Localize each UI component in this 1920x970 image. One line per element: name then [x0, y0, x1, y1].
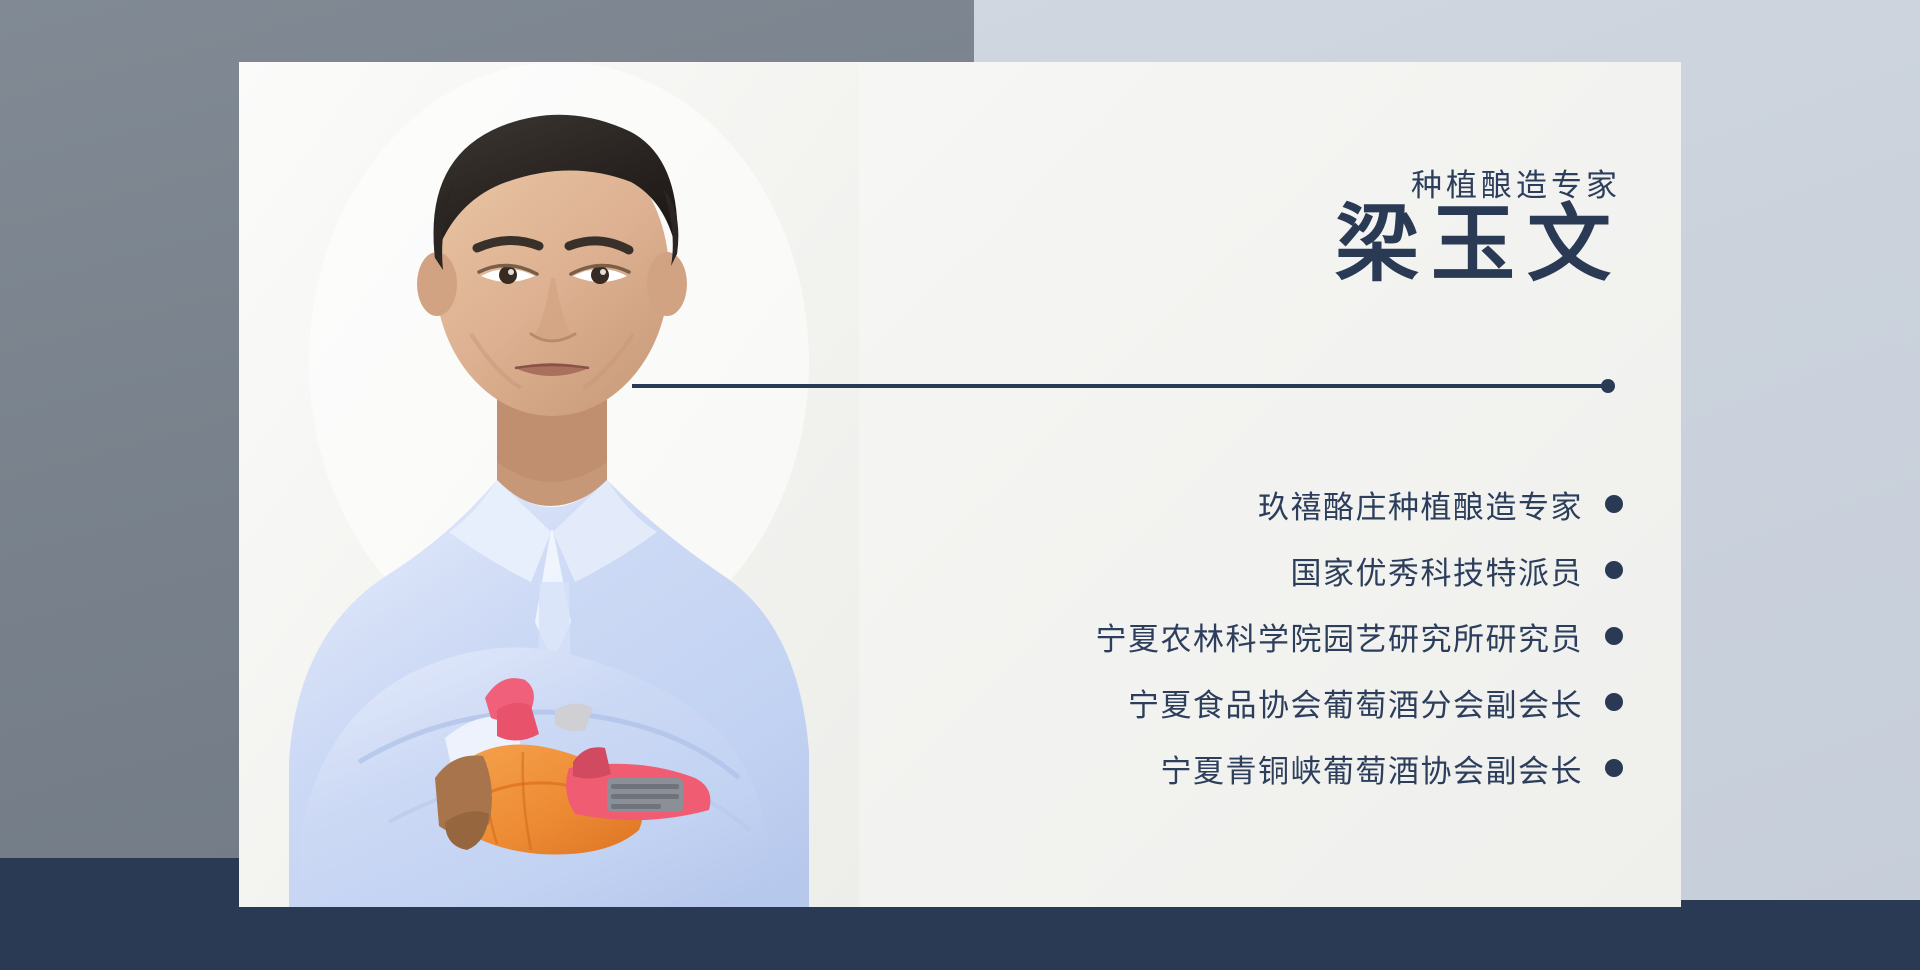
profile-name: 梁玉文 — [1335, 198, 1623, 295]
list-item: 宁夏青铜峡葡萄酒协会副会长 — [903, 741, 1623, 795]
portrait-photo — [239, 62, 859, 907]
credentials-list: 玖禧酪庄种植酿造专家 国家优秀科技特派员 宁夏农林科学院园艺研究所研究员 宁夏食… — [903, 477, 1623, 807]
bullet-dot-icon — [1605, 495, 1623, 513]
divider-end-dot-icon — [1601, 379, 1615, 393]
divider-line — [632, 384, 1608, 388]
credential-label: 宁夏青铜峡葡萄酒协会副会长 — [1161, 746, 1584, 791]
credential-label: 宁夏食品协会葡萄酒分会副会长 — [1128, 680, 1583, 725]
list-item: 国家优秀科技特派员 — [903, 543, 1623, 597]
list-item: 玖禧酪庄种植酿造专家 — [903, 477, 1623, 531]
poster-stage: 种植酿造专家 梁玉文 玖禧酪庄种植酿造专家 国家优秀科技特派员 宁夏农林科学院园… — [0, 0, 1920, 970]
bullet-dot-icon — [1605, 693, 1623, 711]
bullet-dot-icon — [1605, 627, 1623, 645]
profile-text-column: 种植酿造专家 梁玉文 玖禧酪庄种植酿造专家 国家优秀科技特派员 宁夏农林科学院园… — [860, 62, 1681, 907]
credential-label: 玖禧酪庄种植酿造专家 — [1258, 482, 1583, 527]
bullet-dot-icon — [1605, 561, 1623, 579]
bullet-dot-icon — [1605, 759, 1623, 777]
list-item: 宁夏农林科学院园艺研究所研究员 — [903, 609, 1623, 663]
list-item: 宁夏食品协会葡萄酒分会副会长 — [903, 675, 1623, 729]
credential-label: 宁夏农林科学院园艺研究所研究员 — [1096, 614, 1584, 659]
credential-label: 国家优秀科技特派员 — [1291, 548, 1584, 593]
